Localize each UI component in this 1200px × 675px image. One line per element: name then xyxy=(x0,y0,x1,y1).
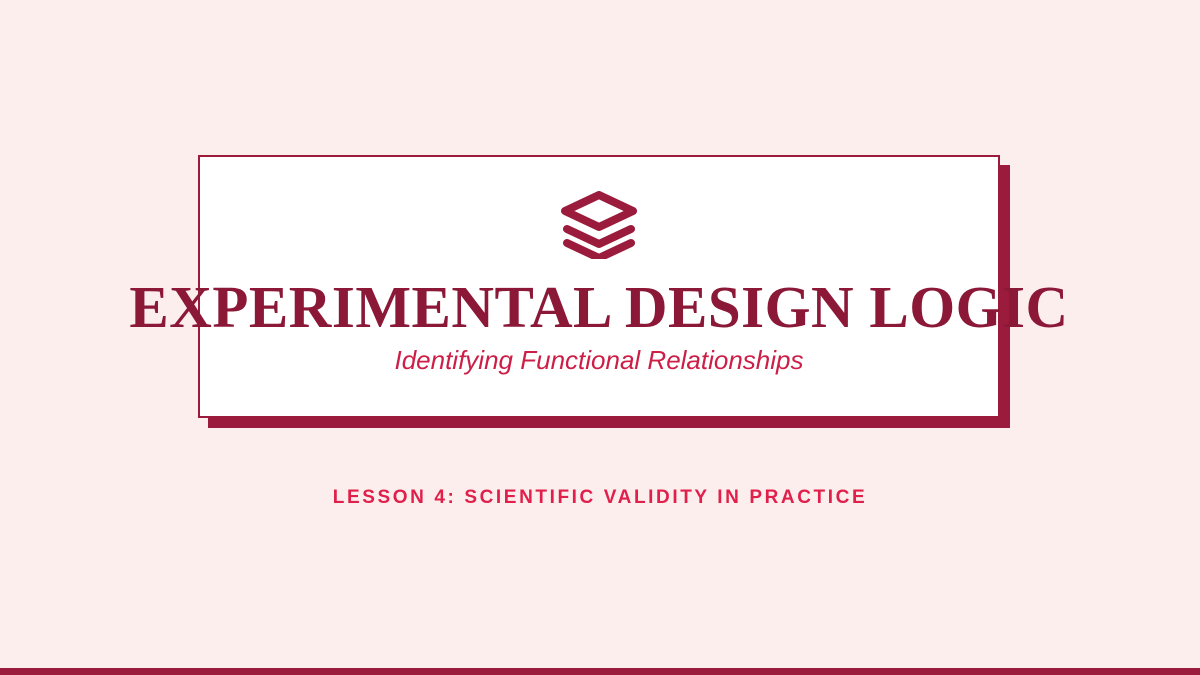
page-subtitle: Identifying Functional Relationships xyxy=(394,345,803,376)
bottom-accent-bar xyxy=(0,668,1200,675)
layers-stack-icon xyxy=(559,191,639,259)
page-title: EXPERIMENTAL DESIGN LOGIC xyxy=(129,277,1068,337)
title-card: EXPERIMENTAL DESIGN LOGIC Identifying Fu… xyxy=(198,155,1000,418)
title-card-container: EXPERIMENTAL DESIGN LOGIC Identifying Fu… xyxy=(198,155,1000,418)
lesson-label: LESSON 4: SCIENTIFIC VALIDITY IN PRACTIC… xyxy=(0,487,1200,509)
title-slide: EXPERIMENTAL DESIGN LOGIC Identifying Fu… xyxy=(0,0,1200,675)
